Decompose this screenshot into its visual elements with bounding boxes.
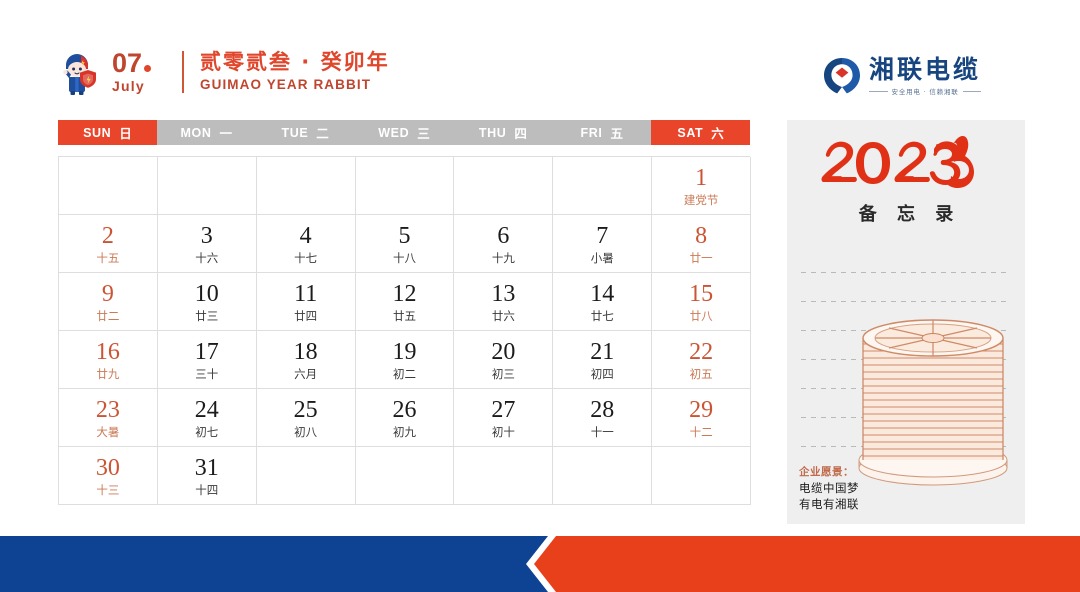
calendar-cell-empty [454, 157, 553, 215]
day-number: 26 [393, 397, 417, 424]
calendar-cell-day-14[interactable]: 14廿七 [553, 273, 652, 331]
day-number: 21 [590, 339, 614, 366]
logo-text-wrap: 湘联电缆 安全用电 · 信赖湘联 [869, 56, 981, 96]
chevron-banner [0, 536, 1080, 592]
day-lunar-label: 十五 [96, 251, 119, 266]
calendar-cell-empty [454, 447, 553, 505]
day-number: 2 [102, 223, 114, 250]
day-number: 30 [96, 455, 120, 482]
day-lunar-label: 初八 [294, 425, 317, 440]
calendar-cell-day-21[interactable]: 21初四 [553, 331, 652, 389]
day-lunar-label: 十九 [492, 251, 515, 266]
day-lunar-label: 十一 [591, 425, 614, 440]
weekday-cn: 四 [514, 123, 527, 142]
day-number: 1 [695, 165, 707, 192]
cable-spool-drum-icon [845, 296, 1021, 492]
day-number: 19 [393, 339, 417, 366]
day-number: 10 [195, 281, 219, 308]
day-lunar-label: 廿三 [195, 309, 218, 324]
calendar-cell-day-31[interactable]: 31十四 [158, 447, 257, 505]
year-chinese: 贰零贰叁 · 癸卯年 [200, 50, 390, 74]
calendar-cell-empty [257, 447, 356, 505]
day-lunar-label: 建党节 [684, 193, 719, 208]
calendar-cell-empty [553, 157, 652, 215]
weekday-cn: 六 [711, 123, 724, 142]
day-number: 14 [590, 281, 614, 308]
weekday-en: FRI [581, 126, 603, 140]
calendar-cell-day-17[interactable]: 17三十 [158, 331, 257, 389]
day-lunar-label: 廿五 [393, 309, 416, 324]
vision-line-1: 电缆中国梦 [799, 480, 859, 496]
weekday-header-thu: THU四 [453, 120, 552, 145]
day-lunar-label: 小暑 [591, 251, 614, 266]
day-lunar-label: 十二 [690, 425, 713, 440]
calendar-cell-day-15[interactable]: 15廿八 [652, 273, 751, 331]
month-dot-icon [144, 65, 151, 72]
month-number: 07 [112, 50, 142, 76]
calendar-cell-day-25[interactable]: 25初八 [257, 389, 356, 447]
calendar-cell-empty [158, 157, 257, 215]
day-lunar-label: 初十 [492, 425, 515, 440]
weekday-cn: 一 [220, 123, 233, 142]
day-lunar-label: 十八 [393, 251, 416, 266]
day-lunar-label: 廿一 [690, 251, 713, 266]
calendar-cell-day-18[interactable]: 18六月 [257, 331, 356, 389]
calendar-cell-day-9[interactable]: 9廿二 [59, 273, 158, 331]
weekday-en: TUE [281, 126, 308, 140]
calendar-cell-day-27[interactable]: 27初十 [454, 389, 553, 447]
day-number: 25 [294, 397, 318, 424]
weekday-cn: 三 [417, 123, 430, 142]
day-number: 6 [497, 223, 509, 250]
calendar-body: SUN日MON一TUE二WED三THU四FRI五SAT六 1建党节2十五3十六4… [58, 120, 750, 505]
weekday-en: SAT [677, 126, 703, 140]
calendar-cell-day-28[interactable]: 28十一 [553, 389, 652, 447]
date-grid: 1建党节2十五3十六4十七5十八6十九7小暑8廿一9廿二10廿三11廿四12廿五… [58, 156, 750, 505]
day-number: 8 [695, 223, 707, 250]
calendar-cell-day-8[interactable]: 8廿一 [652, 215, 751, 273]
calendar-cell-day-23[interactable]: 23大暑 [59, 389, 158, 447]
day-lunar-label: 初三 [492, 367, 515, 382]
vision-line-2: 有电有湘联 [799, 496, 859, 512]
day-lunar-label: 初七 [195, 425, 218, 440]
month-brand-block: 07 July 贰零贰叁 · 癸卯年 GUIMAO YEAR RABBIT [58, 48, 390, 96]
brush-calligraphy-2023-rabbit [816, 132, 996, 194]
weekday-header-wed: WED三 [355, 120, 454, 145]
day-number: 24 [195, 397, 219, 424]
day-number: 11 [294, 281, 317, 308]
footer-banner [0, 536, 1080, 592]
day-number: 7 [596, 223, 608, 250]
calendar-week-row: 30十三31十四 [59, 447, 751, 505]
corporate-vision-block: 企业愿景： 电缆中国梦 有电有湘联 [799, 465, 859, 512]
day-number: 17 [195, 339, 219, 366]
calendar-page: 07 July 贰零贰叁 · 癸卯年 GUIMAO YEAR RABBIT 湘联… [0, 0, 1080, 592]
day-number: 12 [393, 281, 417, 308]
calendar-cell-day-3[interactable]: 3十六 [158, 215, 257, 273]
memo-note-line[interactable] [801, 272, 1011, 273]
day-lunar-label: 廿六 [492, 309, 515, 324]
weekday-en: THU [479, 126, 507, 140]
calendar-cell-day-30[interactable]: 30十三 [59, 447, 158, 505]
day-number: 20 [491, 339, 515, 366]
calendar-week-row: 2十五3十六4十七5十八6十九7小暑8廿一 [59, 215, 751, 273]
day-lunar-label: 十三 [96, 483, 119, 498]
weekday-en: SUN [83, 126, 111, 140]
calendar-cell-day-4[interactable]: 4十七 [257, 215, 356, 273]
calendar-cell-day-19[interactable]: 19初二 [356, 331, 455, 389]
calendar-cell-empty [59, 157, 158, 215]
weekday-cn: 日 [119, 123, 132, 142]
calendar-week-row: 23大暑24初七25初八26初九27初十28十一29十二 [59, 389, 751, 447]
day-number: 29 [689, 397, 713, 424]
month-name: July [112, 78, 174, 94]
weekday-header-mon: MON一 [157, 120, 256, 145]
calendar-cell-day-10[interactable]: 10廿三 [158, 273, 257, 331]
calendar-cell-empty [553, 447, 652, 505]
weekday-header-tue: TUE二 [256, 120, 355, 145]
calendar-cell-day-2[interactable]: 2十五 [59, 215, 158, 273]
day-lunar-label: 六月 [294, 367, 317, 382]
calendar-cell-day-13[interactable]: 13廿六 [454, 273, 553, 331]
day-lunar-label: 十七 [294, 251, 317, 266]
day-number: 4 [300, 223, 312, 250]
calendar-cell-day-5[interactable]: 5十八 [356, 215, 455, 273]
calendar-cell-empty [356, 157, 455, 215]
weekday-header-fri: FRI五 [552, 120, 651, 145]
month-label-box: 07 July [112, 50, 174, 94]
day-lunar-label: 廿八 [690, 309, 713, 324]
day-number: 9 [102, 281, 114, 308]
calendar-cell-empty [356, 447, 455, 505]
calendar-week-row: 16廿九17三十18六月19初二20初三21初四22初五 [59, 331, 751, 389]
day-number: 27 [491, 397, 515, 424]
day-lunar-label: 廿九 [96, 367, 119, 382]
year-english: GUIMAO YEAR RABBIT [200, 76, 390, 94]
calendar-cell-day-26[interactable]: 26初九 [356, 389, 455, 447]
tagline-rule-left [869, 91, 888, 92]
memo-artwork: 备 忘 录 [787, 132, 1025, 226]
day-number: 3 [201, 223, 213, 250]
day-number: 28 [590, 397, 614, 424]
day-lunar-label: 十四 [195, 483, 218, 498]
day-number: 16 [96, 339, 120, 366]
day-lunar-label: 大暑 [96, 425, 119, 440]
day-number: 13 [491, 281, 515, 308]
calendar-week-row: 1建党节 [59, 157, 751, 215]
calendar-cell-empty [652, 447, 751, 505]
page-header: 07 July 贰零贰叁 · 癸卯年 GUIMAO YEAR RABBIT 湘联… [0, 0, 1080, 118]
calendar-cell-day-6[interactable]: 6十九 [454, 215, 553, 273]
year-label-box: 贰零贰叁 · 癸卯年 GUIMAO YEAR RABBIT [200, 50, 390, 94]
weekday-en: MON [181, 126, 212, 140]
calendar-cell-day-22[interactable]: 22初五 [652, 331, 751, 389]
day-lunar-label: 初五 [690, 367, 713, 382]
company-logo: 湘联电缆 安全用电 · 信赖湘联 [822, 56, 981, 96]
day-lunar-label: 廿四 [294, 309, 317, 324]
memo-title: 备 忘 录 [787, 200, 1025, 226]
day-number: 18 [294, 339, 318, 366]
day-lunar-label: 十六 [195, 251, 218, 266]
calendar-cell-day-12[interactable]: 12廿五 [356, 273, 455, 331]
mascot-shield-icon [58, 48, 104, 96]
day-number: 15 [689, 281, 713, 308]
day-number: 5 [399, 223, 411, 250]
day-lunar-label: 三十 [195, 367, 218, 382]
weekday-en: WED [378, 126, 409, 140]
calendar-cell-day-16[interactable]: 16廿九 [59, 331, 158, 389]
day-number: 31 [195, 455, 219, 482]
vision-label: 企业愿景： [799, 465, 859, 480]
day-lunar-label: 廿二 [96, 309, 119, 324]
calendar-cell-day-20[interactable]: 20初三 [454, 331, 553, 389]
company-tagline: 安全用电 · 信赖湘联 [892, 86, 959, 96]
calendar-cell-day-7[interactable]: 7小暑 [553, 215, 652, 273]
day-number: 23 [96, 397, 120, 424]
weekday-cn: 二 [316, 123, 329, 142]
day-lunar-label: 初四 [591, 367, 614, 382]
weekday-cn: 五 [610, 123, 623, 142]
memo-panel: 备 忘 录 企业愿景： 电缆中国梦 有电有湘联 [787, 120, 1025, 524]
weekday-header-row: SUN日MON一TUE二WED三THU四FRI五SAT六 [58, 120, 750, 145]
header-divider [182, 51, 184, 93]
day-number: 22 [689, 339, 713, 366]
logo-tagline-row: 安全用电 · 信赖湘联 [869, 86, 981, 96]
tagline-rule-right [963, 91, 982, 92]
calendar-cell-day-24[interactable]: 24初七 [158, 389, 257, 447]
calendar-cell-day-1[interactable]: 1建党节 [652, 157, 751, 215]
weekday-header-sat: SAT六 [651, 120, 750, 145]
calendar-cell-empty [257, 157, 356, 215]
day-lunar-label: 廿七 [591, 309, 614, 324]
calendar-week-row: 9廿二10廿三11廿四12廿五13廿六14廿七15廿八 [59, 273, 751, 331]
day-lunar-label: 初二 [393, 367, 416, 382]
weekday-header-sun: SUN日 [58, 120, 157, 145]
xianglian-diamond-logo-icon [822, 56, 862, 96]
calendar-cell-day-11[interactable]: 11廿四 [257, 273, 356, 331]
calendar-cell-day-29[interactable]: 29十二 [652, 389, 751, 447]
company-name: 湘联电缆 [869, 56, 981, 83]
day-lunar-label: 初九 [393, 425, 416, 440]
